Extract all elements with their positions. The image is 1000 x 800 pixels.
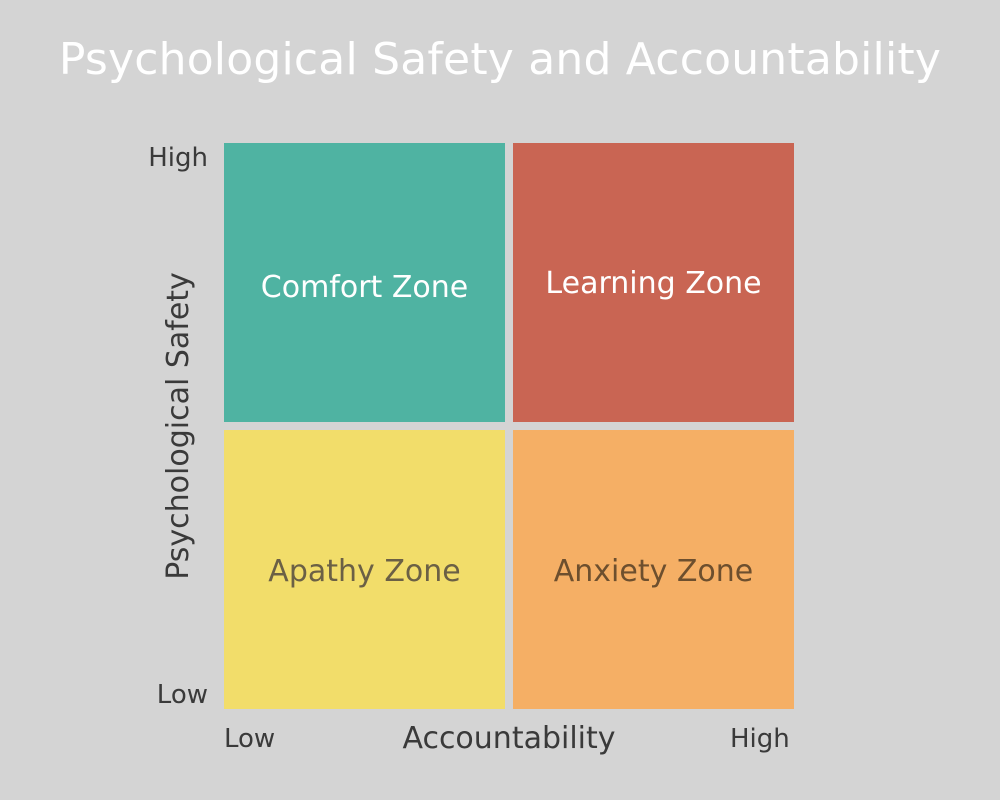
quadrant-matrix: Comfort Zone Learning Zone Apathy Zone A… — [224, 143, 794, 709]
quadrant-anxiety-zone[interactable]: Anxiety Zone — [513, 430, 794, 709]
diagram-canvas: Psychological Safety and Accountability … — [0, 0, 1000, 800]
x-axis-title: Accountability — [224, 721, 794, 757]
quadrant-apathy-zone[interactable]: Apathy Zone — [224, 430, 505, 709]
y-axis-title: Psychological Safety — [161, 272, 197, 580]
chart-title: Psychological Safety and Accountability — [0, 34, 1000, 86]
quadrant-label-apathy-zone: Apathy Zone — [224, 554, 505, 590]
quadrant-learning-zone[interactable]: Learning Zone — [513, 143, 794, 422]
quadrant-label-learning-zone: Learning Zone — [513, 266, 794, 302]
quadrant-comfort-zone[interactable]: Comfort Zone — [224, 143, 505, 422]
quadrant-label-anxiety-zone: Anxiety Zone — [513, 554, 794, 590]
y-axis-title-container: Psychological Safety — [153, 143, 205, 709]
quadrant-label-comfort-zone: Comfort Zone — [224, 270, 505, 306]
